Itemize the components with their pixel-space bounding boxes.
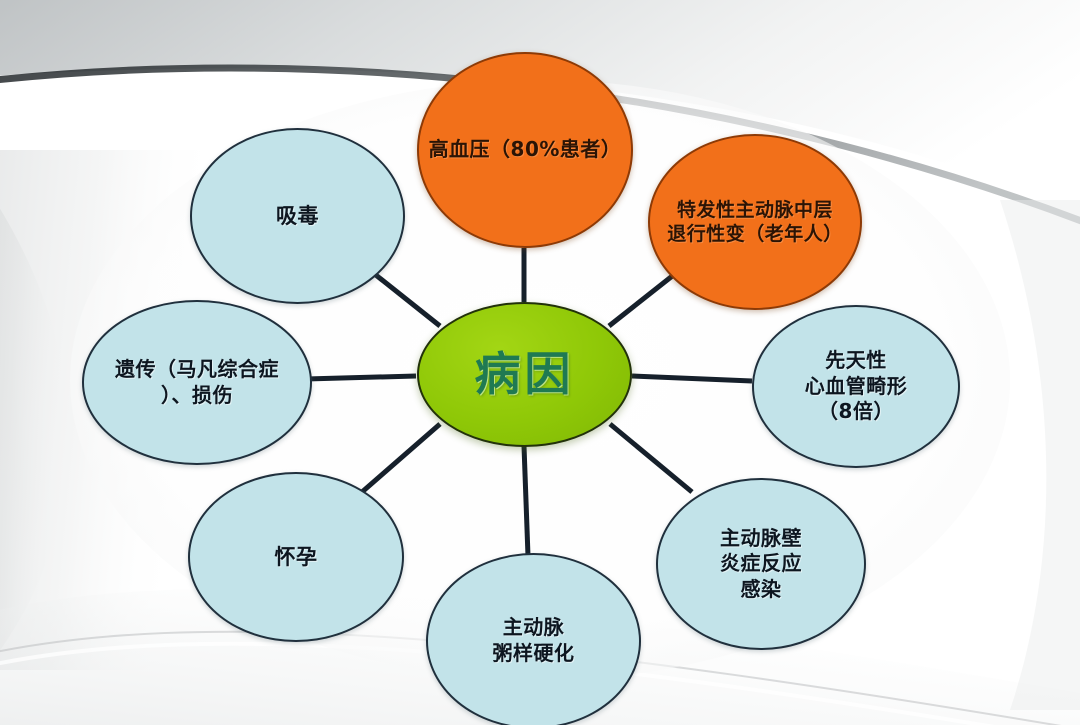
node-degeneration[interactable]: 特发性主动脉中层 退行性变（老年人） <box>648 134 862 310</box>
connector-genetic <box>306 376 416 379</box>
node-drug-use[interactable]: 吸毒 <box>190 128 405 304</box>
diagram-canvas: 高血压（80%患者） 特发性主动脉中层 退行性变（老年人） 先天性 心血管畸形 … <box>0 0 1080 725</box>
node-atherosclerosis-label: 主动脉 粥样硬化 <box>493 615 575 666</box>
node-degeneration-label: 特发性主动脉中层 退行性变（老年人） <box>667 198 843 247</box>
node-genetic-label: 遗传（马凡综合症 ）、损伤 <box>115 357 279 408</box>
node-drug-label: 吸毒 <box>276 203 319 230</box>
node-center-label: 病因 <box>475 345 575 404</box>
node-congenital-label: 先天性 心血管畸形 （8倍） <box>805 348 908 425</box>
node-atherosclerosis[interactable]: 主动脉 粥样硬化 <box>426 553 641 725</box>
node-center-etiology[interactable]: 病因 <box>417 302 632 447</box>
node-congenital-malformation[interactable]: 先天性 心血管畸形 （8倍） <box>752 305 960 468</box>
connector-pregnancy <box>362 424 440 492</box>
node-pregnancy-label: 怀孕 <box>275 544 318 571</box>
connector-inflammation <box>610 424 692 492</box>
node-inflammation-label: 主动脉壁 炎症反应 感染 <box>720 526 802 603</box>
node-hypertension-label: 高血压（80%患者） <box>429 137 622 163</box>
connector-atherosclerosis <box>524 446 528 556</box>
connector-congenital <box>632 376 752 381</box>
node-genetic-marfan[interactable]: 遗传（马凡综合症 ）、损伤 <box>82 300 312 465</box>
node-pregnancy[interactable]: 怀孕 <box>188 472 404 642</box>
node-aortic-wall-inflammation[interactable]: 主动脉壁 炎症反应 感染 <box>656 478 866 650</box>
node-hypertension[interactable]: 高血压（80%患者） <box>417 52 633 248</box>
